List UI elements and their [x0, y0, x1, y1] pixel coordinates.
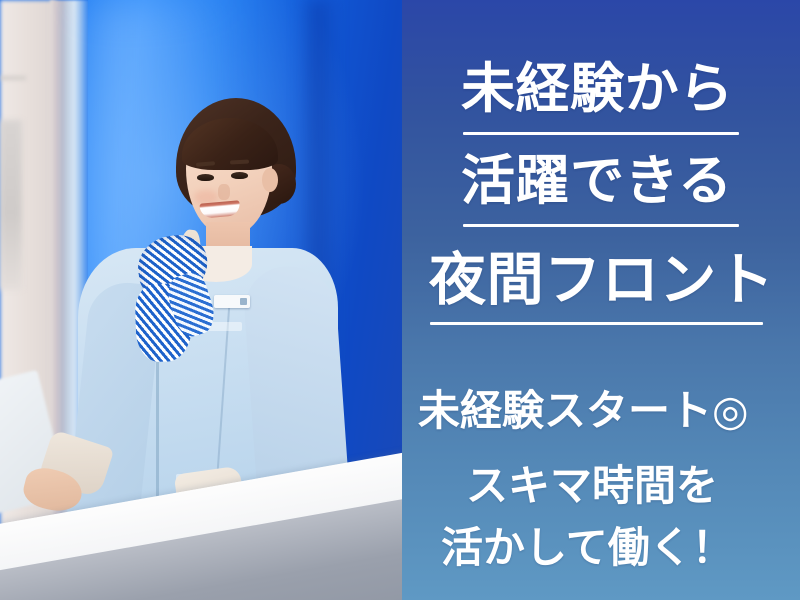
nose [218, 184, 230, 200]
background-wall-trim [0, 76, 26, 80]
headline-underline-3 [430, 322, 763, 325]
neck-scarf [120, 226, 229, 366]
ear [262, 168, 278, 192]
subcopy-line-2: スキマ時間を [466, 466, 718, 508]
headline-underline-2 [463, 224, 739, 227]
eye-right [231, 172, 248, 179]
job-ad-banner: 未経験から 活躍できる 夜間フロント 未経験スタート◎ スキマ時間を 活かして働… [0, 0, 800, 600]
headline-line-2: 活躍できる [461, 154, 733, 208]
subcopy-line-1: 未経験スタート◎ [418, 391, 749, 433]
headline-line-3: 夜間フロント [429, 252, 774, 309]
headline-line-1: 未経験から [461, 62, 734, 116]
eye-left [197, 174, 214, 181]
background-wall-shadow [0, 120, 22, 290]
text-panel: 未経験から 活躍できる 夜間フロント 未経験スタート◎ スキマ時間を 活かして働… [402, 0, 800, 600]
subcopy-line-3: 活かして働く！ [441, 528, 734, 570]
hero-photo [0, 0, 402, 600]
headline-underline-1 [463, 132, 739, 135]
